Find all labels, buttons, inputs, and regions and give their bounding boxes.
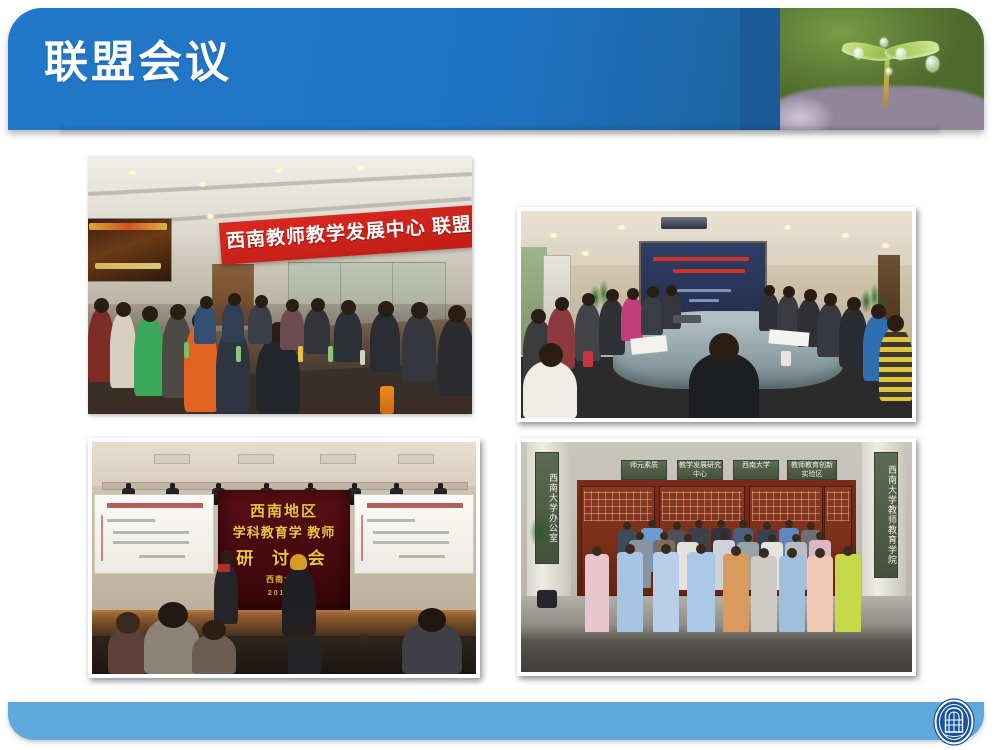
person-front-row (585, 554, 609, 632)
person-head (717, 520, 725, 528)
person-head (768, 534, 776, 542)
screen-text-line (89, 223, 167, 230)
person (438, 318, 472, 396)
person-head (661, 544, 671, 554)
person-head (804, 289, 817, 302)
person (879, 327, 913, 401)
person-head (228, 293, 241, 306)
water-bottle (184, 342, 189, 358)
person-head (531, 309, 546, 324)
slide-text-line (373, 541, 449, 544)
person-head (286, 299, 299, 312)
person (248, 304, 272, 344)
slide-text-line (113, 541, 189, 544)
lattice (584, 491, 652, 521)
lighting-truss (102, 482, 468, 490)
person-head (647, 286, 659, 298)
person (280, 308, 304, 350)
person-head (448, 305, 466, 323)
person-front-row (723, 554, 749, 632)
plaque-top-1: 师元素质 (621, 460, 667, 480)
person-head (411, 302, 428, 319)
person-front-row (779, 556, 805, 632)
slide-text-line (107, 519, 155, 522)
person-head (696, 544, 706, 554)
dew-drop (886, 68, 892, 75)
person-head (170, 304, 186, 320)
person-audience (192, 634, 236, 674)
backdrop-line-1: 西南地区 (218, 500, 350, 521)
person-head (744, 534, 752, 542)
person-head (158, 602, 188, 628)
ceiling-light (206, 214, 215, 219)
header-sprout-photo (780, 8, 984, 130)
person-head (636, 532, 644, 540)
water-bottle (328, 346, 333, 362)
person (621, 297, 643, 341)
person-head (648, 520, 656, 528)
cup (583, 351, 593, 367)
person-head (763, 522, 771, 530)
slide-heading (107, 503, 203, 508)
person-head (816, 532, 824, 540)
person-front-row (653, 552, 679, 632)
plaque-top-3: 西南大学 (733, 460, 779, 480)
person-head (202, 620, 226, 640)
slide-canvas: 联盟会议 (0, 0, 1000, 750)
slide-accent-rule (101, 515, 103, 561)
person-head (200, 296, 213, 309)
ceiling-light (128, 170, 137, 175)
southwest-university-seal-logo (932, 698, 976, 746)
person (334, 310, 362, 362)
person-head (731, 546, 741, 556)
person (759, 293, 779, 331)
ceiling-light (549, 233, 558, 238)
person-head (843, 546, 853, 556)
person-front-row (751, 556, 777, 632)
plaque-right: 西南大学教师教育学院 (874, 452, 898, 578)
ceiling-light (617, 225, 626, 230)
person-head (695, 520, 703, 528)
slide-text-line (367, 519, 415, 522)
slide-text-line (139, 555, 185, 558)
person-head (785, 520, 793, 528)
person-front-row (687, 552, 715, 632)
dew-drop (926, 56, 939, 72)
backdrop-line-3: 研 讨 会 (218, 544, 350, 569)
projection-screen-right (354, 494, 474, 574)
header-banner: 联盟会议 (8, 8, 984, 130)
slide-heading (367, 503, 463, 508)
ceiling-vent (154, 454, 190, 464)
plaque-top-2: 教学发展研究中心 (677, 460, 723, 480)
screen-text-line (95, 263, 161, 269)
person-head (255, 295, 268, 308)
dew-drop (896, 48, 906, 60)
person (194, 304, 216, 344)
person-head (418, 608, 446, 632)
person-head (627, 288, 639, 300)
person-head (592, 546, 602, 556)
person-head (759, 548, 769, 558)
dew-drop (854, 48, 863, 59)
lattice (662, 491, 742, 521)
projector (661, 217, 707, 229)
person-head (684, 534, 692, 542)
person-front-row (835, 554, 861, 632)
person-head (660, 532, 668, 540)
person (641, 295, 663, 335)
person (661, 293, 681, 329)
screen-subtext-line (677, 289, 731, 292)
water-bottle (360, 350, 365, 365)
person-head (341, 300, 356, 315)
screen-text-line (653, 257, 749, 261)
header-accent-strip (740, 8, 780, 130)
ceiling-light (783, 225, 792, 230)
ceiling-light (581, 251, 590, 256)
backdrop-line-2: 学科教育学 教师 (218, 522, 350, 541)
person-foreground (523, 361, 577, 419)
bag-on-ground (537, 590, 557, 608)
person (222, 302, 244, 342)
ceiling-vent (238, 454, 274, 464)
person-head (739, 520, 747, 528)
person (304, 308, 330, 354)
photo-meeting-projector (517, 207, 916, 422)
dew-drop (880, 38, 888, 47)
slide-text-line (373, 531, 449, 534)
lattice (752, 491, 820, 521)
person-head (555, 297, 569, 311)
screen-text-line (673, 269, 745, 273)
person-head (625, 544, 635, 554)
ceiling-light (356, 166, 365, 171)
water-bottle (298, 346, 303, 362)
footer-bar (8, 702, 984, 740)
person-head (720, 532, 728, 540)
person-head (311, 298, 325, 312)
person-head (824, 293, 837, 306)
shrub (525, 508, 555, 556)
person-head (116, 302, 131, 317)
projection-screen-left (94, 494, 214, 574)
person-head (606, 289, 619, 302)
person-head (220, 550, 234, 564)
person (370, 312, 400, 372)
scarf (218, 564, 230, 572)
person-front-row (807, 556, 833, 632)
person-head (673, 522, 681, 530)
ceiling-vent (320, 454, 356, 464)
person-head (582, 293, 595, 306)
slide-text-line (399, 555, 445, 558)
ceiling-light (841, 233, 850, 238)
ceiling-light (881, 243, 890, 248)
slide-accent-rule (361, 515, 363, 561)
person-head (94, 298, 109, 313)
person-head (709, 333, 739, 363)
person (402, 314, 436, 382)
photo-group-portrait: 西南大学办公室 西南大学教师教育学院 师元素质 教学发展研究中心 西南大学 教师… (517, 438, 916, 676)
person-head (787, 548, 797, 558)
photo-meeting-red-banner: 西南教师教学发展中心 联盟工作会 (88, 156, 472, 414)
person-head (871, 304, 886, 319)
thermos (380, 386, 394, 414)
person-head (666, 285, 677, 296)
person-head (783, 286, 795, 298)
screen-subtext-line (689, 299, 719, 302)
person-head (539, 343, 563, 367)
person-head (815, 548, 825, 558)
ceiling-vent (398, 454, 434, 464)
plaque-top-4: 教师教育创新实验区 (787, 460, 837, 480)
photo-symposium-auditorium: 西南地区 学科教育学 教师 研 讨 会 西南大学 2015年 (88, 438, 480, 678)
person-front-row (617, 552, 643, 632)
person-head (887, 315, 904, 332)
projection-screen (88, 218, 172, 282)
person (134, 316, 164, 396)
person-head (142, 306, 158, 322)
slide-text-line (113, 531, 189, 534)
person-head (378, 301, 394, 317)
person-head (623, 522, 631, 530)
person-head (792, 534, 800, 542)
ceiling-light (198, 182, 207, 187)
cup (781, 351, 791, 366)
person-head (116, 612, 140, 634)
orange-beret (290, 554, 307, 570)
sprout-stones (780, 86, 984, 130)
person-head (807, 522, 815, 530)
person-audience (288, 640, 322, 674)
ceiling-light (274, 168, 283, 173)
person-head (847, 297, 861, 311)
lattice (827, 491, 849, 521)
water-bottle (236, 346, 241, 362)
page-title: 联盟会议 (44, 34, 232, 92)
person (110, 312, 136, 388)
person-head (764, 285, 775, 296)
microphone-base (673, 315, 701, 323)
header-shadow (60, 128, 940, 136)
